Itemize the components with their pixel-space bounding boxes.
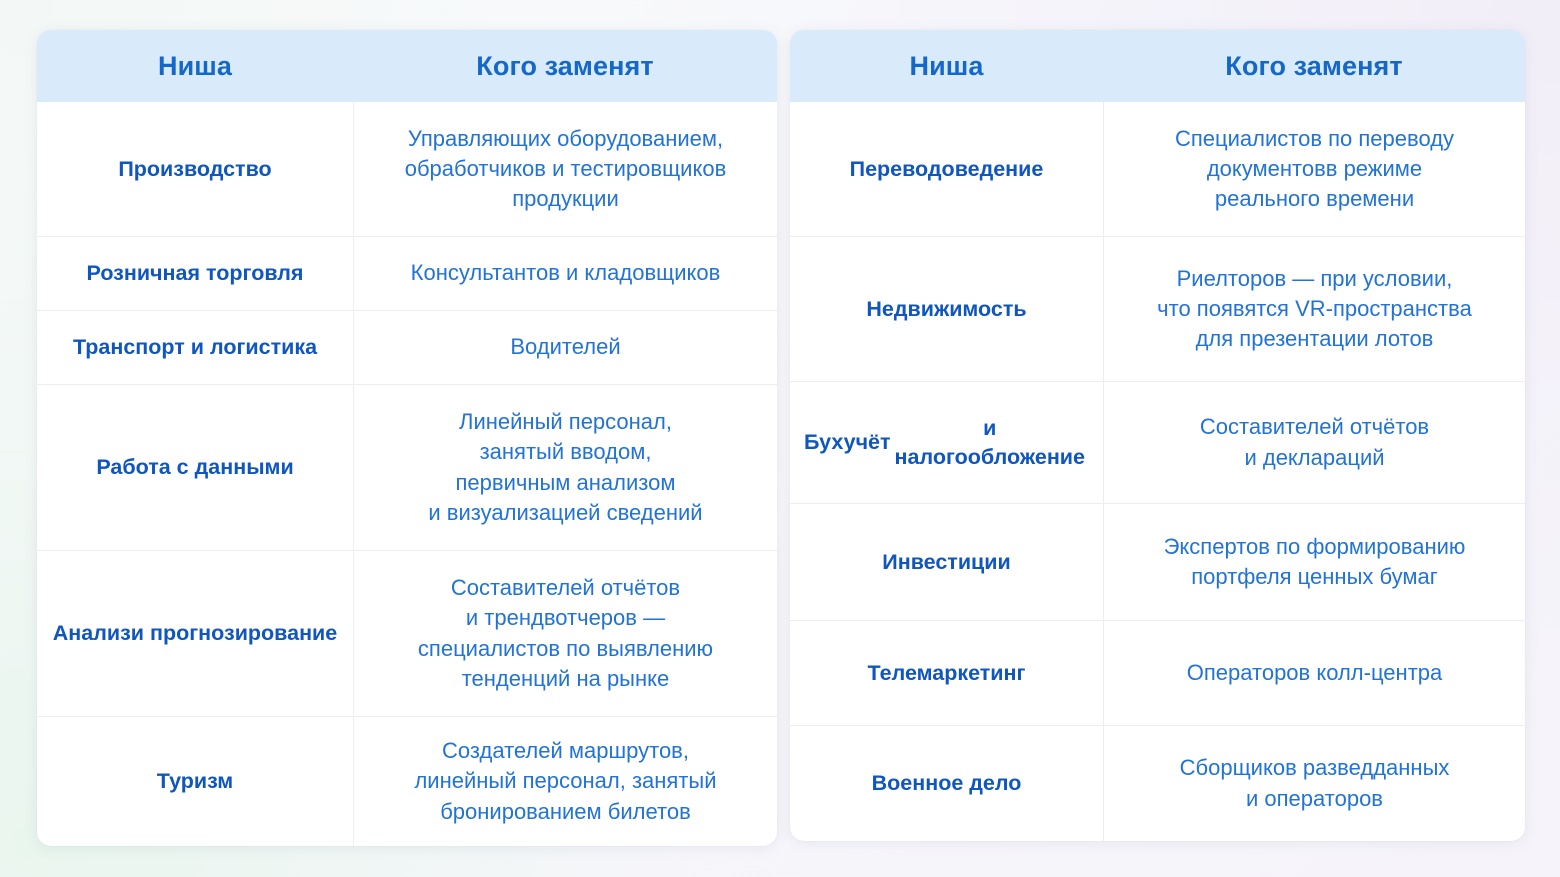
replaces-line: продукции xyxy=(405,184,727,214)
replaces-text: Сборщиков разведданныхи операторов xyxy=(1180,753,1450,813)
table-row: ТуризмСоздателей маршрутов,линейный перс… xyxy=(37,716,777,846)
cell-niche: Инвестиции xyxy=(790,504,1103,620)
niche-line: Розничная торговля xyxy=(87,259,304,287)
cell-replaces: Консультантов и кладовщиков xyxy=(353,237,777,310)
replaces-text: Создателей маршрутов,линейный персонал, … xyxy=(414,736,716,826)
replaces-line: Линейный персонал, xyxy=(428,407,702,437)
replaces-line: что появятся VR-пространства xyxy=(1157,294,1472,324)
right-table-body: ПереводоведениеСпециалистов по переводуд… xyxy=(790,102,1525,841)
cell-niche: Туризм xyxy=(37,717,353,846)
niche-line: Анализ xyxy=(53,619,131,647)
cell-replaces: Составителей отчётови деклараций xyxy=(1103,382,1525,503)
replaces-line: Составителей отчётов xyxy=(1200,412,1429,442)
replaces-text: Операторов колл-центра xyxy=(1187,658,1443,688)
replaces-text: Риелторов — при условии,что появятся VR-… xyxy=(1157,264,1472,354)
right-header-replaces: Кого заменят xyxy=(1103,30,1525,102)
table-row: Розничная торговляКонсультантов и кладов… xyxy=(37,236,777,310)
tables-board: Ниша Кого заменят ПроизводствоУправляющи… xyxy=(0,0,1560,877)
cell-replaces: Составителей отчётови трендвотчеров —спе… xyxy=(353,551,777,716)
table-row: Анализи прогнозированиеСоставителей отчё… xyxy=(37,550,777,716)
replaces-line: Сборщиков разведданных xyxy=(1180,753,1450,783)
table-row: Работа с даннымиЛинейный персонал,заняты… xyxy=(37,384,777,550)
cell-replaces: Создателей маршрутов,линейный персонал, … xyxy=(353,717,777,846)
replaces-line: Консультантов и кладовщиков xyxy=(411,258,721,288)
table-row: Военное делоСборщиков разведданныхи опер… xyxy=(790,725,1525,841)
table-row: Транспорт и логистикаВодителей xyxy=(37,310,777,384)
cell-niche: Работа с данными xyxy=(37,385,353,550)
niche-line: Инвестиции xyxy=(882,548,1010,576)
replaces-line: Специалистов по переводу xyxy=(1175,124,1454,154)
replaces-line: и визуализацией сведений xyxy=(428,498,702,528)
replaces-line: обработчиков и тестировщиков xyxy=(405,154,727,184)
niche-line: Бухучёт xyxy=(804,428,891,456)
cell-replaces: Экспертов по формированиюпортфеля ценных… xyxy=(1103,504,1525,620)
left-table-card: Ниша Кого заменят ПроизводствоУправляющи… xyxy=(37,30,777,846)
niche-line: Военное дело xyxy=(872,769,1022,797)
replaces-text: Специалистов по переводудокументовв режи… xyxy=(1175,124,1454,214)
replaces-line: Управляющих оборудованием, xyxy=(405,124,727,154)
table-row: ТелемаркетингОператоров колл-центра xyxy=(790,620,1525,725)
replaces-line: Экспертов по формированию xyxy=(1164,532,1466,562)
replaces-line: Создателей маршрутов, xyxy=(414,736,716,766)
cell-replaces: Линейный персонал,занятый вводом,первичн… xyxy=(353,385,777,550)
replaces-line: реального времени xyxy=(1175,184,1454,214)
replaces-text: Составителей отчётови деклараций xyxy=(1200,412,1429,472)
replaces-line: бронированием билетов xyxy=(414,797,716,827)
cell-replaces: Специалистов по переводудокументовв режи… xyxy=(1103,102,1525,236)
table-row: ПереводоведениеСпециалистов по переводуд… xyxy=(790,102,1525,236)
table-row: ИнвестицииЭкспертов по формированиюпортф… xyxy=(790,503,1525,620)
replaces-line: и операторов xyxy=(1180,784,1450,814)
left-header-niche: Ниша xyxy=(37,30,353,102)
replaces-line: Водителей xyxy=(510,332,620,362)
cell-replaces: Водителей xyxy=(353,311,777,384)
niche-line: Телемаркетинг xyxy=(868,659,1026,687)
replaces-line: и трендвотчеров — xyxy=(418,603,713,633)
left-table-body: ПроизводствоУправляющих оборудованием,об… xyxy=(37,102,777,846)
niche-line: Переводоведение xyxy=(850,155,1044,183)
cell-replaces: Операторов колл-центра xyxy=(1103,621,1525,725)
cell-niche: Бухучёти налогообложение xyxy=(790,382,1103,503)
niche-line: и налогообложение xyxy=(891,414,1089,471)
niche-line: и прогнозирование xyxy=(131,619,337,647)
niche-line: Недвижимость xyxy=(866,295,1026,323)
right-header-niche: Ниша xyxy=(790,30,1103,102)
replaces-line: линейный персонал, занятый xyxy=(414,766,716,796)
replaces-line: специалистов по выявлению xyxy=(418,634,713,664)
replaces-text: Водителей xyxy=(510,332,620,362)
replaces-line: документовв режиме xyxy=(1175,154,1454,184)
niche-line: Транспорт и логистика xyxy=(73,333,317,361)
replaces-line: занятый вводом, xyxy=(428,437,702,467)
cell-replaces: Управляющих оборудованием,обработчиков и… xyxy=(353,102,777,236)
replaces-line: первичным анализом xyxy=(428,468,702,498)
table-row: НедвижимостьРиелторов — при условии,что … xyxy=(790,236,1525,381)
replaces-text: Составителей отчётови трендвотчеров —спе… xyxy=(418,573,713,694)
replaces-line: портфеля ценных бумаг xyxy=(1164,562,1466,592)
cell-replaces: Риелторов — при условии,что появятся VR-… xyxy=(1103,237,1525,381)
cell-niche: Производство xyxy=(37,102,353,236)
cell-niche: Недвижимость xyxy=(790,237,1103,381)
right-table-card: Ниша Кого заменят ПереводоведениеСпециал… xyxy=(790,30,1525,841)
left-header-replaces: Кого заменят xyxy=(353,30,777,102)
niche-line: Туризм xyxy=(157,767,233,795)
replaces-line: и деклараций xyxy=(1200,443,1429,473)
cell-replaces: Сборщиков разведданныхи операторов xyxy=(1103,726,1525,841)
niche-line: Работа с данными xyxy=(96,453,293,481)
replaces-line: Риелторов — при условии, xyxy=(1157,264,1472,294)
niche-line: Производство xyxy=(118,155,271,183)
cell-niche: Переводоведение xyxy=(790,102,1103,236)
replaces-line: тенденций на рынке xyxy=(418,664,713,694)
replaces-text: Экспертов по формированиюпортфеля ценных… xyxy=(1164,532,1466,592)
replaces-line: Операторов колл-центра xyxy=(1187,658,1443,688)
table-row: ПроизводствоУправляющих оборудованием,об… xyxy=(37,102,777,236)
cell-niche: Военное дело xyxy=(790,726,1103,841)
replaces-line: Составителей отчётов xyxy=(418,573,713,603)
table-row: Бухучёти налогообложениеСоставителей отч… xyxy=(790,381,1525,503)
replaces-line: для презентации лотов xyxy=(1157,324,1472,354)
replaces-text: Консультантов и кладовщиков xyxy=(411,258,721,288)
replaces-text: Управляющих оборудованием,обработчиков и… xyxy=(405,124,727,214)
cell-niche: Транспорт и логистика xyxy=(37,311,353,384)
right-table-header-row: Ниша Кого заменят xyxy=(790,30,1525,102)
replaces-text: Линейный персонал,занятый вводом,первичн… xyxy=(428,407,702,528)
cell-niche: Телемаркетинг xyxy=(790,621,1103,725)
left-table-header-row: Ниша Кого заменят xyxy=(37,30,777,102)
cell-niche: Анализи прогнозирование xyxy=(37,551,353,716)
cell-niche: Розничная торговля xyxy=(37,237,353,310)
